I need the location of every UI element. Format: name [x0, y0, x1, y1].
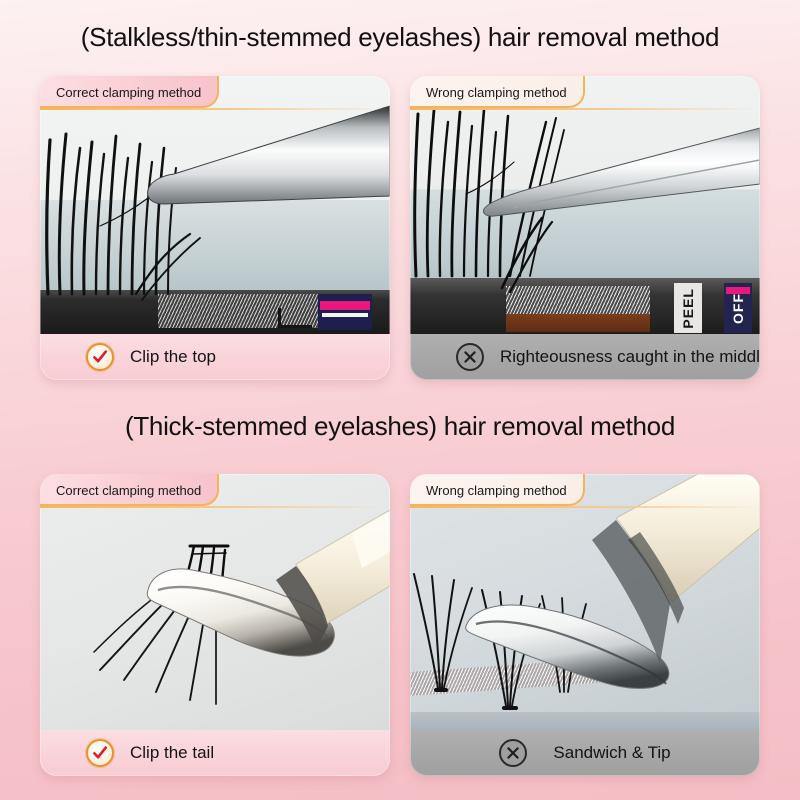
- card-bottom-right-wrong[interactable]: Wrong clamping method Sandwich & Tip: [410, 474, 760, 776]
- caption-label: Sandwich & Tip: [553, 743, 670, 763]
- photo-thick-correct: Correct clamping method: [40, 474, 390, 730]
- infographic-page: (Stalkless/thin-stemmed eyelashes) hair …: [0, 0, 800, 800]
- card-row-top: Correct clamping method Clip the top: [40, 76, 760, 380]
- caption-label: Clip the top: [130, 347, 216, 367]
- card-row-bottom: Correct clamping method Clip the tail: [40, 474, 760, 776]
- lashes-and-tweezer-illustration: [410, 76, 760, 334]
- photo-thin-correct: Correct clamping method: [40, 76, 390, 334]
- badge-correct-clamping: Correct clamping method: [40, 76, 219, 108]
- section-title-thin-stemmed: (Stalkless/thin-stemmed eyelashes) hair …: [0, 22, 800, 53]
- cross-glyph: [461, 348, 479, 366]
- badge-gold-rule: [40, 506, 390, 508]
- caption-bar-caught-middle: Righteousness caught in the middle: [410, 334, 760, 380]
- check-glyph: [91, 348, 109, 366]
- check-circle-icon: [86, 739, 114, 767]
- card-bottom-left-correct[interactable]: Correct clamping method Clip the tail: [40, 474, 390, 776]
- photo-scene-thick-wrong: [410, 474, 760, 730]
- lashes-and-tweezer-illustration: [40, 76, 390, 334]
- badge-gold-rule: [410, 506, 760, 508]
- badge-label: Wrong clamping method: [426, 85, 567, 100]
- caption-bar-sandwich-tip: Sandwich & Tip: [410, 730, 760, 776]
- x-circle-icon: [499, 739, 527, 767]
- x-circle-icon: [456, 343, 484, 371]
- caption-label: Clip the tail: [130, 743, 214, 763]
- curved-tweezer-illustration: [410, 474, 760, 730]
- card-top-right-wrong[interactable]: PEEL OFF: [410, 76, 760, 380]
- curved-tweezer-illustration: [40, 474, 390, 730]
- badge-gold-rule: [40, 108, 390, 110]
- caption-bar-clip-the-tail: Clip the tail: [40, 730, 390, 776]
- photo-thick-wrong: Wrong clamping method: [410, 474, 760, 730]
- check-glyph: [91, 744, 109, 762]
- cross-glyph: [504, 744, 522, 762]
- badge-label: Correct clamping method: [56, 85, 201, 100]
- photo-scene-thin-wrong: PEEL OFF: [410, 76, 760, 334]
- badge-wrong-clamping: Wrong clamping method: [410, 474, 585, 506]
- badge-label: Correct clamping method: [56, 483, 201, 498]
- photo-scene-thin-correct: [40, 76, 390, 334]
- card-top-left-correct[interactable]: Correct clamping method Clip the top: [40, 76, 390, 380]
- badge-label: Wrong clamping method: [426, 483, 567, 498]
- check-circle-icon: [86, 343, 114, 371]
- section-title-thick-stemmed: (Thick-stemmed eyelashes) hair removal m…: [0, 411, 800, 442]
- caption-label: Righteousness caught in the middle: [500, 347, 760, 367]
- photo-thin-wrong: PEEL OFF: [410, 76, 760, 334]
- badge-gold-rule: [410, 108, 760, 110]
- photo-scene-thick-correct: [40, 474, 390, 730]
- badge-wrong-clamping: Wrong clamping method: [410, 76, 585, 108]
- caption-bar-clip-the-top: Clip the top: [40, 334, 390, 380]
- badge-correct-clamping: Correct clamping method: [40, 474, 219, 506]
